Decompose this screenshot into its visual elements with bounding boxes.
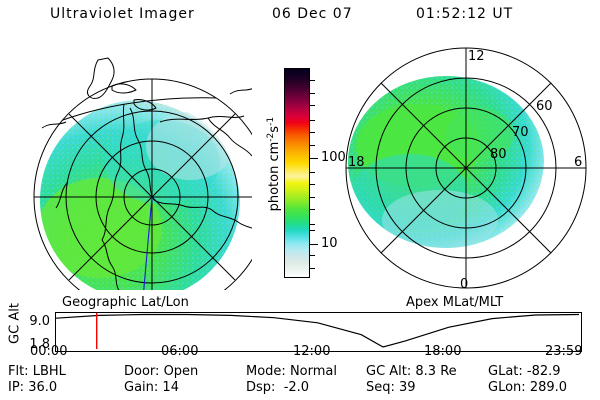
footer-door: Door: Open [124,364,198,379]
mlt-label-12: 12 [468,49,485,64]
colorbar-gradient [285,69,309,277]
lat-ring-label-70: 70 [512,125,529,140]
footer-glat: GLat: -82.9 [488,364,561,379]
colorbar-minor-tick [309,105,315,106]
footer-flt: Flt: LBHL [8,364,66,379]
lat-ring-label-60: 60 [536,99,553,114]
colorbar-minor-tick [309,224,315,225]
colorbar-major-tick [309,158,318,159]
footer-mode: Mode: Normal [246,364,337,379]
colorbar-tick-label: 10 [321,237,338,250]
mlt-polar-plot[interactable]: 12 6 0 18 60 70 80 [340,42,592,294]
colorbar-minor-tick [309,255,315,256]
mlt-label-0: 0 [460,277,468,292]
mlt-label-18: 18 [348,155,365,170]
time-tick-1200: 12:00 [293,344,330,359]
colorbar-minor-tick [309,197,315,198]
colorbar-minor-tick [309,80,315,81]
colorbar-scale [284,68,310,278]
footer-seq: Seq: 39 [366,380,416,395]
colorbar-minor-tick [309,172,315,173]
gc-alt-tick-high: 9.0 [16,315,50,328]
time-tick-1800: 18:00 [424,344,461,359]
colorbar-minor-tick [309,120,315,121]
observation-time: 01:52:12 UT [416,6,513,22]
observation-date: 06 Dec 07 [272,6,353,22]
footer-dsp: Dsp: -2.0 [246,380,309,395]
colorbar-axis-label: photon cm-2s-1 [266,84,282,244]
time-tick-0000: 00:00 [30,344,67,359]
page-title: Ultraviolet Imager [50,6,195,22]
colorbar-minor-tick [309,132,315,133]
colorbar-minor-tick [309,268,315,269]
lat-ring-label-80: 80 [490,147,507,162]
mlt-label-6: 6 [574,155,582,170]
status-footer: Flt: LBHL Door: Open Mode: Normal GC Alt… [0,364,600,398]
footer-ip: IP: 36.0 [8,380,57,395]
gc-alt-curve [56,315,579,348]
mlt-grid [346,48,586,288]
footer-glon: GLon: 289.0 [488,380,567,395]
footer-gain: Gain: 14 [124,380,179,395]
colorbar-minor-tick [309,145,315,146]
colorbar-minor-tick [309,230,315,231]
colorbar-major-tick [309,244,318,245]
time-tick-0600: 06:00 [161,344,198,359]
header-bar: Ultraviolet Imager 06 Dec 07 01:52:12 UT [0,6,600,28]
mlt-plot-svg: 12 6 0 18 60 70 80 [340,42,592,294]
aurora-emission-region [344,70,544,250]
geographic-plot-svg [12,42,252,290]
geographic-polar-plot[interactable] [12,42,252,290]
footer-gcalt: GC Alt: 8.3 Re [366,364,457,379]
time-tick-2359: 23:59 [545,344,582,359]
colorbar-minor-tick [309,93,315,94]
colorbar-minor-tick [309,209,315,210]
colorbar-minor-tick [309,184,315,185]
colorbar-panel: photon cm-2s-1 10010 [246,60,342,292]
